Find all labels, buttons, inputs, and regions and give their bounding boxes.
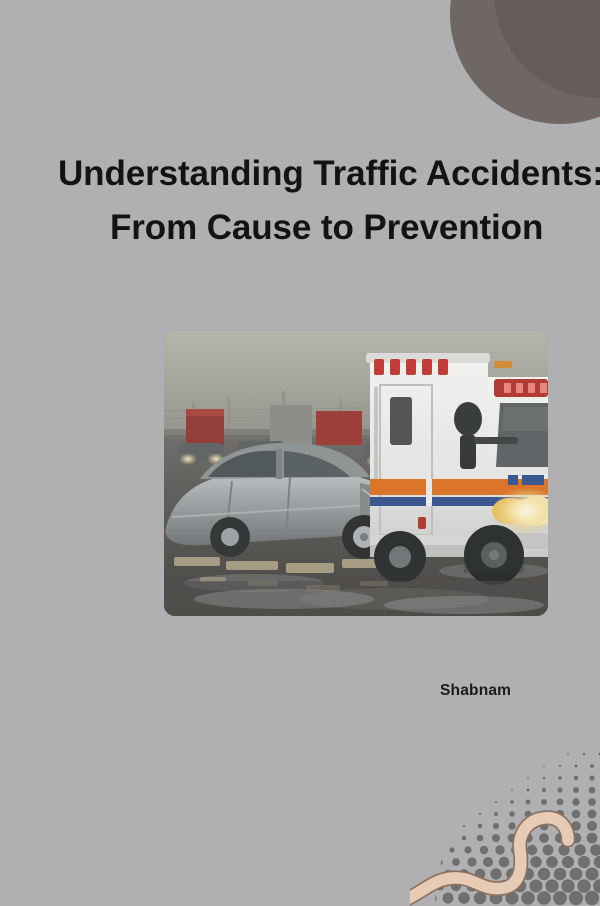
halftone-decoration (410, 746, 600, 906)
book-cover-page: Understanding Traffic Accidents: From Ca… (0, 0, 600, 906)
traffic-accident-photo (164, 331, 548, 616)
author-name: Shabnam (440, 682, 511, 700)
squiggle-ribbon-icon (410, 818, 568, 902)
title-line-1: Understanding Traffic Accidents: (58, 147, 600, 201)
title-line-2: From Cause to Prevention (58, 201, 600, 255)
cover-image (164, 331, 548, 616)
halftone-quarter-circle-icon (410, 746, 600, 906)
page-title: Understanding Traffic Accidents: From Ca… (58, 147, 600, 255)
